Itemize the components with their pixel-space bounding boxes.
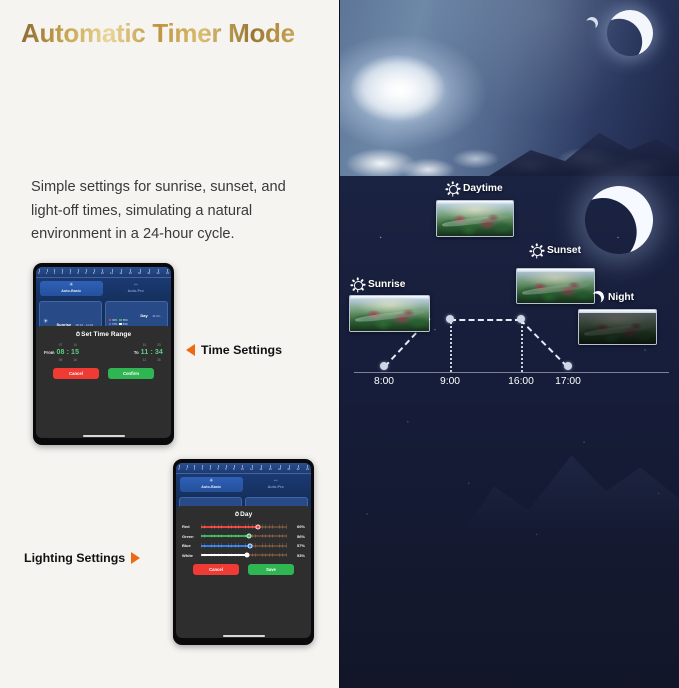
slider-value: 57% <box>290 543 305 548</box>
point-16 <box>517 315 525 323</box>
time-separator: : <box>67 349 69 356</box>
ruler-tick: 10 <box>241 465 244 472</box>
tank-preview-daytime <box>436 200 514 237</box>
sun-ray <box>529 250 532 252</box>
ruler-tick: 18 <box>138 269 141 276</box>
schedule-name: Day <box>140 313 147 318</box>
tick-label-8: 8:00 <box>374 376 394 387</box>
sun-ray <box>531 245 534 248</box>
to-hour-stepper[interactable]: 10 11 12 <box>141 343 149 362</box>
to-min-value: 34 <box>155 349 163 356</box>
aquarium-scene <box>579 313 656 344</box>
sun-ray <box>539 253 542 256</box>
callout-time-settings: Time Settings <box>186 343 282 357</box>
from-min-next: 16 <box>73 358 77 362</box>
sun-ray <box>357 289 359 292</box>
intro-paragraph: Simple settings for sunrise, sunset, and… <box>31 176 316 247</box>
ruler-tick: 8 <box>233 465 234 472</box>
slider-row: Blue57% <box>182 543 305 548</box>
ruler-tick: 14 <box>119 269 122 276</box>
tab-auto-pro-label: Auto-Pro <box>105 289 168 293</box>
time-separator: : <box>150 349 152 356</box>
ruler-tick: 16 <box>269 465 272 472</box>
dialog-title: ⏱Day <box>181 511 306 519</box>
sun-ray <box>350 284 353 286</box>
sun-icon: ☀ <box>40 283 103 288</box>
time-axis <box>354 372 669 373</box>
ruler-tick: 5 <box>77 269 78 276</box>
callout-label: Lighting Settings <box>24 551 125 565</box>
ruler-tick: 1 <box>186 465 187 472</box>
slider-track[interactable] <box>201 545 287 547</box>
channel-chips: 66%56%57%53% <box>109 319 135 326</box>
point-17 <box>564 362 572 370</box>
slider-label: White <box>182 553 198 558</box>
phase-text: Daytime <box>463 183 503 194</box>
triangle-right-icon <box>131 552 140 564</box>
sun-icon <box>351 278 364 291</box>
slider-row: Red66% <box>182 524 305 529</box>
sun-icon <box>446 182 459 195</box>
sun-ray <box>445 188 448 190</box>
sun-ray <box>452 181 454 184</box>
tab-auto-basic-label: Auto-Basic <box>40 289 103 293</box>
ruler-tick: 4 <box>209 465 210 472</box>
slider-label: Blue <box>182 543 198 548</box>
tick-label-9: 9:00 <box>440 376 460 387</box>
slider-knob[interactable] <box>255 524 260 529</box>
ruler-tick: 2 <box>54 269 55 276</box>
mode-tab-bar: ☀ Auto-Basic ∾ Auto-Pro <box>36 278 171 299</box>
ruler-tick: 3 <box>62 269 63 276</box>
crescent-moon-icon <box>601 4 659 62</box>
tank-preview-sunset <box>516 268 595 304</box>
to-group: To 10 11 12 : 33 34 <box>134 343 163 362</box>
sky-photo <box>340 0 679 176</box>
tab-auto-basic[interactable]: ☀ Auto-Basic <box>40 281 103 296</box>
sun-ray <box>457 188 460 190</box>
slider-fill <box>201 554 247 556</box>
clock-icon: ⏱ <box>76 332 80 338</box>
slider-fill <box>201 535 249 537</box>
ruler-tick: 20 <box>287 465 290 472</box>
callout-label: Time Settings <box>201 343 282 357</box>
slider-knob[interactable] <box>244 553 249 558</box>
slider-label: Red <box>182 524 198 529</box>
sun-icon <box>530 244 543 257</box>
confirm-button[interactable]: Confirm <box>108 368 154 379</box>
tab-auto-basic-label: Auto-Basic <box>180 485 243 489</box>
ruler-tick: 0 <box>38 269 39 276</box>
dash-sunset-fall <box>520 319 568 367</box>
sun-ray <box>452 193 454 196</box>
dotted-line-16 <box>521 322 523 372</box>
channel-chip: 66% <box>109 319 118 322</box>
ruler-tick: 8 <box>93 269 94 276</box>
channel-swatch <box>109 323 112 326</box>
tick-label-16: 16:00 <box>508 376 534 387</box>
wave-icon: ∾ <box>245 479 308 484</box>
from-minute-stepper[interactable]: 14 15 16 <box>71 343 79 362</box>
sun-icon: ☀ <box>180 479 243 484</box>
slider-track[interactable] <box>201 526 287 528</box>
channel-swatch <box>119 319 122 322</box>
moon-icon <box>590 289 605 304</box>
sun-ray <box>455 183 458 186</box>
channel-value: 56% <box>123 319 128 322</box>
ruler-tick: 20 <box>147 269 150 276</box>
phone-mockup-lighting-settings: 012345681012141618202224 ☀ Auto-Basic ∾ … <box>173 459 314 645</box>
slider-track[interactable] <box>201 535 287 537</box>
from-hour-value: 08 <box>56 349 64 356</box>
right-panel: Set up to 7 time points freely within 24… <box>340 0 679 688</box>
hour-ruler[interactable]: 012345681012141618202224 <box>36 267 171 278</box>
slider-label: Green <box>182 534 198 539</box>
sun-ray <box>536 255 538 258</box>
phase-label-sunrise: Sunrise <box>351 278 405 291</box>
point-9 <box>446 315 454 323</box>
sun-ray <box>536 243 538 246</box>
phase-text: Sunset <box>547 245 581 256</box>
ruler-tick: 22 <box>157 269 160 276</box>
phase-label-night: Night <box>592 291 634 303</box>
dotted-line-9am <box>450 322 452 372</box>
wave-icon: ∾ <box>105 283 168 288</box>
channel-value: 66% <box>112 319 117 322</box>
slider-value: 53% <box>290 553 305 558</box>
from-hour-stepper[interactable]: 07 08 09 <box>56 343 64 362</box>
dialog-title: ⏱Set Time Range <box>41 331 166 339</box>
sun-ray <box>360 287 363 290</box>
phone-mockup-time-settings: 012345681012141618202224 ☀ Auto-Basic ∾ … <box>33 263 174 445</box>
phase-label-sunset: Sunset <box>530 244 581 257</box>
ruler-tick: 14 <box>259 465 262 472</box>
slider-row: Green56% <box>182 534 305 539</box>
sun-ray <box>360 279 363 282</box>
to-hour-prev: 10 <box>143 343 147 347</box>
slider-fill <box>201 526 258 528</box>
channel-chip: 56% <box>119 319 128 322</box>
from-label: From <box>44 350 54 355</box>
from-min-prev: 14 <box>73 343 77 347</box>
ruler-tick: 18 <box>278 465 281 472</box>
aquarium-scene <box>350 299 429 331</box>
ruler-tick: 2 <box>194 465 195 472</box>
ruler-tick: 12 <box>110 269 113 276</box>
sunrise-icon: ☀ <box>43 319 48 325</box>
sun-ray <box>531 253 534 256</box>
sun-ray <box>357 277 359 280</box>
slider-knob[interactable] <box>248 543 253 548</box>
triangle-left-icon <box>186 344 195 356</box>
sun-ray <box>539 245 542 248</box>
promo-page: Automatic Timer Mode Simple settings for… <box>0 0 679 688</box>
slider-knob[interactable] <box>247 534 252 539</box>
ruler-tick: 3 <box>202 465 203 472</box>
slider-value: 56% <box>290 534 305 539</box>
lighting-dialog: ⏱Day Red66%Green56%Blue57%White53% Cance… <box>176 506 311 638</box>
callout-lighting-settings: Lighting Settings <box>24 551 140 565</box>
dialog-actions: Cancel Save <box>181 564 306 575</box>
channel-swatch <box>119 323 122 326</box>
channel-swatch <box>109 319 112 322</box>
page-title: Automatic Timer Mode <box>21 18 295 49</box>
ruler-tick: 4 <box>69 269 70 276</box>
aquarium-scene <box>437 204 513 236</box>
ruler-tick: 6 <box>85 269 86 276</box>
set-time-range-dialog: ⏱Set Time Range From 07 08 09 : <box>36 326 171 438</box>
sun-ray <box>447 191 450 194</box>
to-hour-next: 12 <box>143 358 147 362</box>
tab-auto-basic[interactable]: ☀ Auto-Basic <box>180 477 243 492</box>
ruler-tick: 6 <box>225 465 226 472</box>
point-8 <box>380 362 388 370</box>
slider-fill <box>201 545 250 547</box>
night-scene: 8:00 9:00 16:00 17:00 Sunrise Daytime <box>340 176 679 688</box>
ruler-tick: 0 <box>178 465 179 472</box>
left-panel: Automatic Timer Mode Simple settings for… <box>0 0 340 688</box>
app-screen-lighting: 012345681012141618202224 ☀ Auto-Basic ∾ … <box>176 463 311 638</box>
cancel-button[interactable]: Cancel <box>193 564 239 575</box>
save-button[interactable]: Save <box>248 564 294 575</box>
time-picker: From 07 08 09 : 14 15 <box>41 343 166 362</box>
slider-row: White53% <box>182 553 305 558</box>
small-moon-icon <box>584 15 600 31</box>
ruler-tick: 24 <box>166 269 169 276</box>
sun-ray <box>455 191 458 194</box>
to-min-prev: 33 <box>157 343 161 347</box>
tank-preview-night <box>578 309 657 345</box>
from-group: From 07 08 09 : 14 15 <box>44 343 79 362</box>
app-screen-time: 012345681012141618202224 ☀ Auto-Basic ∾ … <box>36 267 171 438</box>
sun-ray <box>352 287 355 290</box>
ruler-tick: 16 <box>129 269 132 276</box>
sun-ray <box>362 284 365 286</box>
home-indicator <box>223 635 265 637</box>
hour-ruler[interactable]: 012345681012141618202224 <box>176 463 311 474</box>
tick-label-17: 17:00 <box>555 376 581 387</box>
tank-preview-sunrise <box>349 295 430 332</box>
sun-ray <box>541 250 544 252</box>
sun-ray <box>447 183 450 186</box>
ruler-tick: 1 <box>46 269 47 276</box>
aquarium-scene <box>517 272 594 303</box>
from-hour-next: 09 <box>59 358 63 362</box>
tab-auto-pro[interactable]: ∾ Auto-Pro <box>245 477 308 492</box>
from-hour-prev: 07 <box>59 343 63 347</box>
ruler-tick: 24 <box>306 465 309 472</box>
ruler-tick: 10 <box>101 269 104 276</box>
phase-text: Sunrise <box>368 279 405 290</box>
tab-auto-pro[interactable]: ∾ Auto-Pro <box>105 281 168 296</box>
tab-auto-pro-label: Auto-Pro <box>245 485 308 489</box>
mode-tab-bar: ☀ Auto-Basic ∾ Auto-Pro <box>176 474 311 495</box>
slider-value: 66% <box>290 524 305 529</box>
channel-sliders: Red66%Green56%Blue57%White53% <box>181 523 306 558</box>
to-min-next: 35 <box>157 358 161 362</box>
cancel-button[interactable]: Cancel <box>53 368 99 379</box>
dash-day-plateau <box>450 319 521 321</box>
slider-track[interactable] <box>201 554 287 556</box>
ruler-tick: 22 <box>297 465 300 472</box>
to-label: To <box>134 350 139 355</box>
ruler-tick: 5 <box>217 465 218 472</box>
phase-text: Night <box>608 292 634 303</box>
timeline-chart: 8:00 9:00 16:00 17:00 Sunrise Daytime <box>340 176 679 688</box>
clock-icon: ⏱ <box>235 512 239 518</box>
sun-ray <box>352 279 355 282</box>
phase-label-daytime: Daytime <box>446 182 503 195</box>
from-min-value: 15 <box>71 349 79 356</box>
dialog-actions: Cancel Confirm <box>41 368 166 379</box>
home-indicator <box>83 435 125 437</box>
to-minute-stepper[interactable]: 33 34 35 <box>155 343 163 362</box>
to-hour-value: 11 <box>141 349 149 356</box>
ruler-tick: 12 <box>250 465 253 472</box>
